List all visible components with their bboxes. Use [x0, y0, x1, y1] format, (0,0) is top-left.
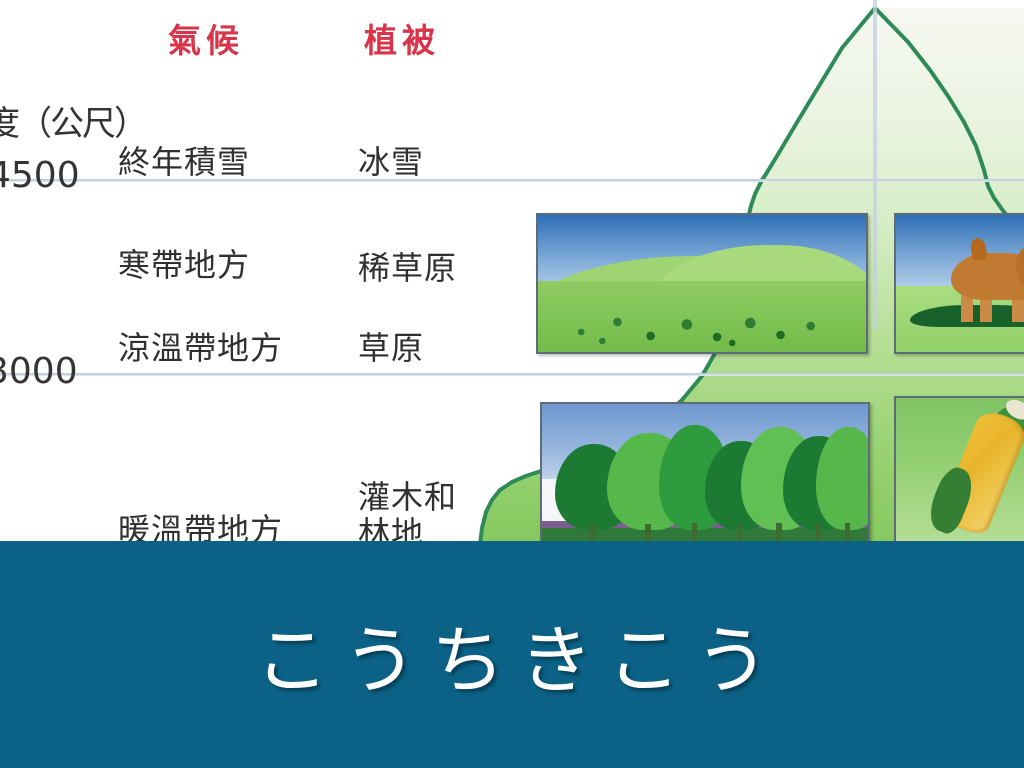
- axis-tick-3000: 3000: [0, 351, 78, 392]
- gridline-3000: [0, 373, 1024, 376]
- cattle-photo: [894, 213, 1024, 354]
- cow-body: [951, 253, 1024, 300]
- climate-label-cool-temperate-zone: 涼溫帶地方: [118, 323, 283, 369]
- grassland-photo: [536, 213, 868, 354]
- summit-axis-line: [873, 0, 877, 330]
- slide-stage: 度（公尺） 4500 3000 氣候 植被 終年積雪 寒帶地方 涼溫帶地方 暖溫…: [0, 0, 1024, 768]
- tree: [816, 427, 870, 529]
- column-header-vegetation: 植被: [364, 14, 440, 62]
- vegetation-label-ice-and-snow: 冰雪: [358, 137, 424, 183]
- tree-crown: [816, 427, 870, 529]
- climate-label-perpetual-snow: 終年積雪: [118, 137, 250, 183]
- caption-banner: こうちきこう: [0, 541, 1024, 768]
- caption-text: こうちきこう: [241, 601, 783, 708]
- grass-tufts: [551, 297, 853, 346]
- axis-tick-4500: 4500: [0, 155, 80, 196]
- forest-photo: [540, 402, 870, 544]
- corn-photo: [894, 396, 1024, 544]
- column-header-climate: 氣候: [168, 14, 244, 62]
- vegetation-label-sparse-grassland: 稀草原: [358, 243, 457, 289]
- climate-label-frigid-zone: 寒帶地方: [118, 240, 250, 286]
- vegetation-label-grassland: 草原: [358, 323, 424, 369]
